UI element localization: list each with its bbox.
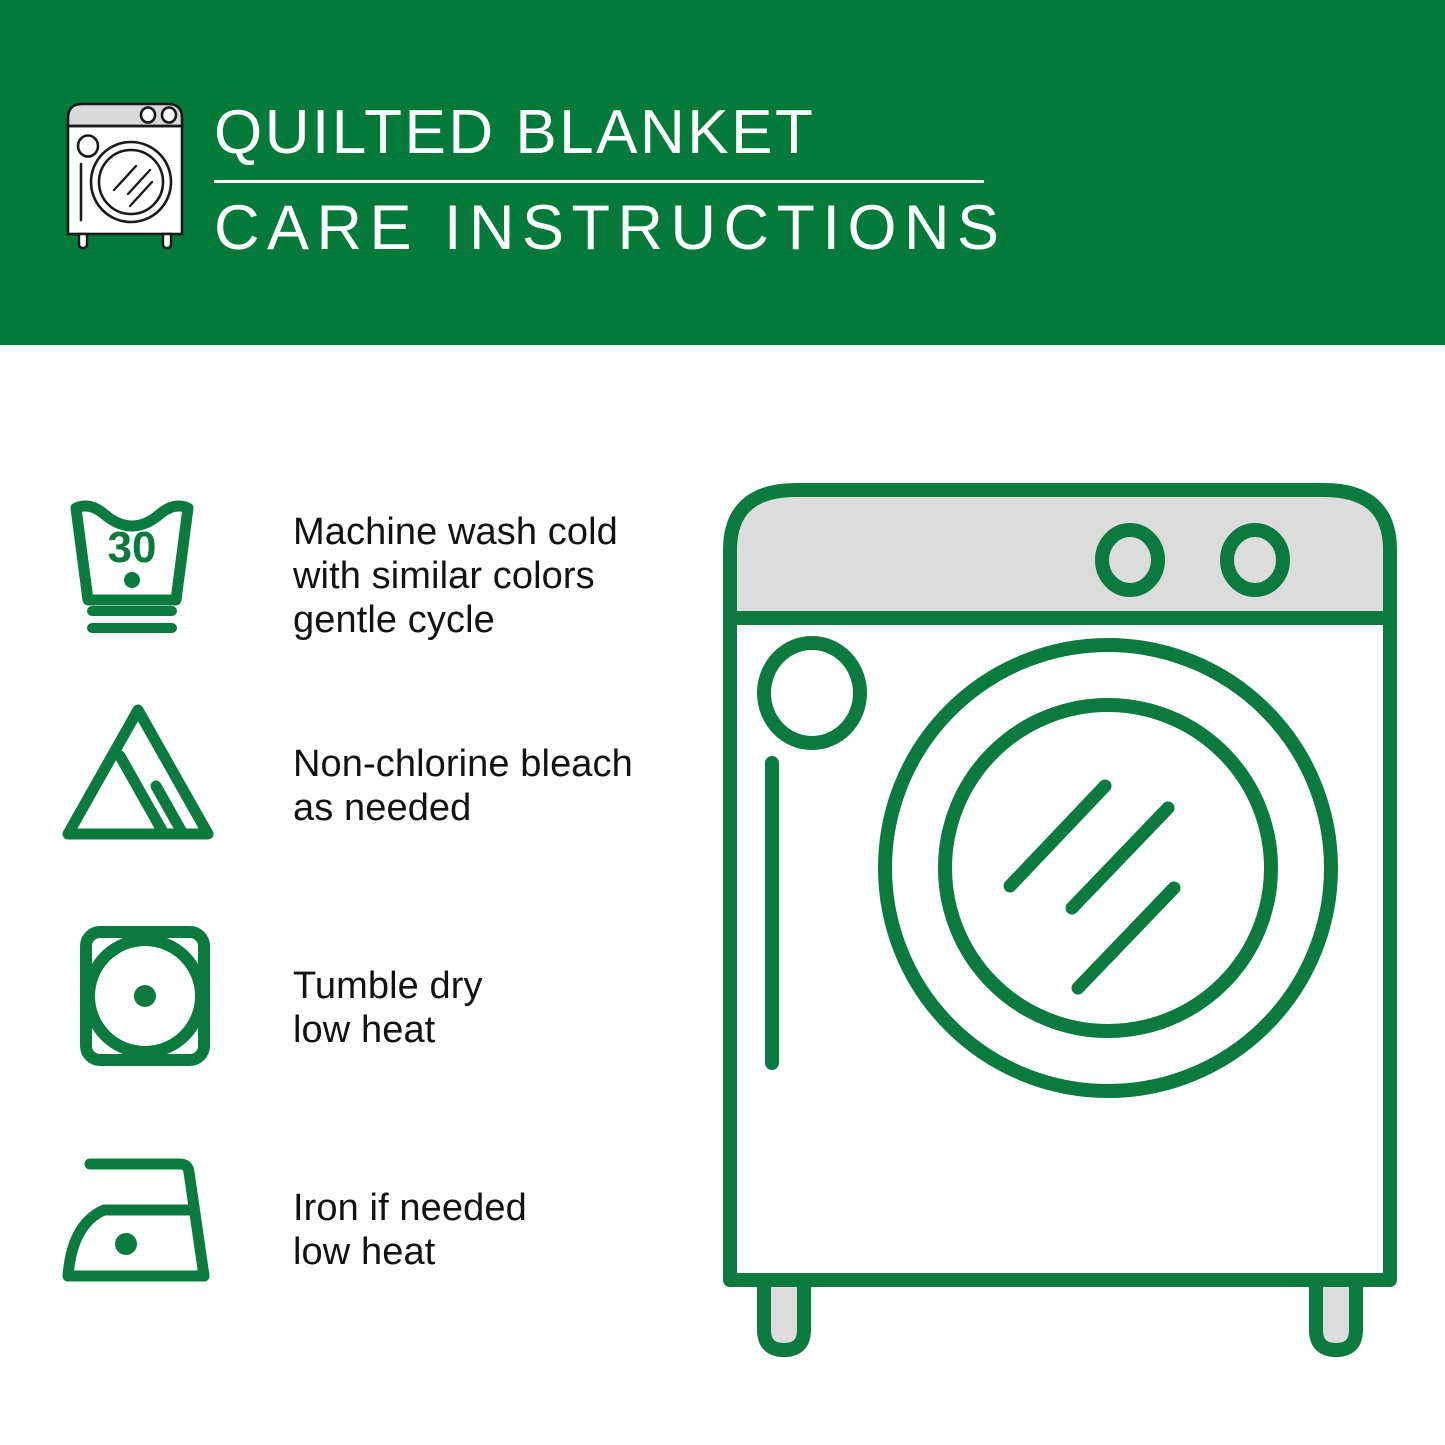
header-band: QUILTED BLANKET CARE INSTRUCTIONS (0, 0, 1445, 345)
care-text-bleach: Non-chlorine bleach as needed (230, 694, 700, 830)
tumble-dry-dot (134, 985, 156, 1007)
knob-right (1227, 530, 1283, 590)
care-line: as needed (293, 786, 700, 830)
iron-heat-dot (115, 1233, 137, 1255)
iron-low-heat-icon (60, 1138, 230, 1308)
care-line: Non-chlorine bleach (293, 742, 700, 786)
care-line: Machine wash cold (293, 510, 700, 554)
care-line: Iron if needed (293, 1186, 700, 1230)
care-row-tumble-dry: Tumble dry low heat (60, 916, 700, 1086)
leg-right (1316, 1278, 1356, 1350)
header-content: QUILTED BLANKET CARE INSTRUCTIONS (62, 98, 1004, 260)
knob-left (1102, 530, 1158, 590)
care-text-iron: Iron if needed low heat (230, 1138, 700, 1274)
gentle-bar-2 (87, 623, 177, 633)
page-title: QUILTED BLANKET (214, 102, 1004, 164)
care-line: gentle cycle (293, 598, 700, 642)
title-divider (214, 180, 984, 183)
care-text-tumble-dry: Tumble dry low heat (230, 916, 700, 1052)
page-subtitle: CARE INSTRUCTIONS (214, 197, 1004, 260)
wash-temperature-label: 30 (108, 523, 157, 572)
tumble-dry-low-icon (60, 916, 230, 1086)
front-load-washing-machine-illustration (700, 468, 1420, 1373)
washing-machine-icon (62, 98, 188, 250)
care-row-machine-wash: 30 Machine wash cold with similar colors… (60, 470, 700, 642)
gentle-bar-1 (87, 606, 177, 616)
header-titles: QUILTED BLANKET CARE INSTRUCTIONS (214, 98, 1004, 260)
care-line: with similar colors (293, 554, 700, 598)
non-chlorine-bleach-icon (60, 694, 230, 864)
care-line: low heat (293, 1230, 700, 1274)
care-row-bleach: Non-chlorine bleach as needed (60, 694, 700, 864)
care-instruction-list: 30 Machine wash cold with similar colors… (60, 470, 700, 1308)
care-instructions-page: QUILTED BLANKET CARE INSTRUCTIONS 30 (0, 0, 1445, 1445)
control-panel (730, 490, 1390, 618)
small-dial (764, 643, 860, 743)
care-text-machine-wash: Machine wash cold with similar colors ge… (230, 470, 700, 642)
leg-left (764, 1278, 804, 1350)
machine-wash-30-gentle-icon: 30 (60, 470, 230, 640)
care-line: low heat (293, 1008, 700, 1052)
care-row-iron: Iron if needed low heat (60, 1138, 700, 1308)
care-line: Tumble dry (293, 964, 700, 1008)
wash-dot (124, 572, 140, 588)
